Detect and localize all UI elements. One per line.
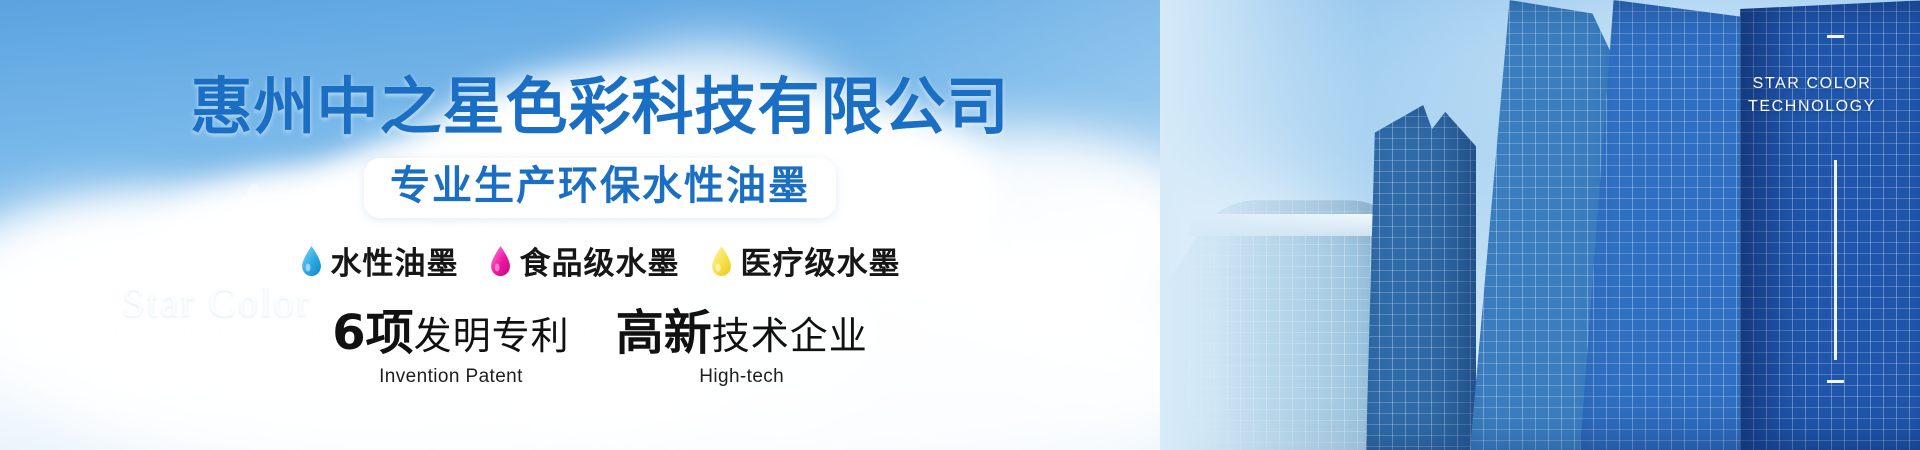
water-drop-icon (300, 245, 323, 277)
feature-label: 医疗级水墨 (741, 238, 901, 283)
badge-main-text: 高新 技术企业 (616, 309, 868, 357)
feature-list: 水性油墨 食品级水墨 (300, 238, 901, 283)
badge-rest-text: 技术企业 (712, 317, 868, 355)
logo-tick-bottom (1827, 380, 1844, 383)
badge-main-text: 6项 发明专利 (332, 309, 569, 357)
badge-high-tech: 高新 技术企业 High-tech (616, 309, 868, 388)
badge-list: 6项 发明专利 Invention Patent 高新 技术企业 High-te… (332, 309, 867, 388)
badge-english-text: Invention Patent (379, 366, 523, 388)
logo-tick-top (1827, 35, 1844, 38)
badge-invention-patent: 6项 发明专利 Invention Patent (332, 309, 569, 388)
badge-strong-text: 高新 (616, 309, 712, 357)
feature-item: 水性油墨 (300, 238, 459, 283)
badge-strong-text: 6项 (332, 309, 413, 357)
water-drop-icon (710, 245, 733, 277)
logo-vertical-rule (1834, 160, 1837, 360)
feature-item: 医疗级水墨 (710, 238, 901, 283)
water-drop-icon (489, 245, 512, 277)
company-title: 惠州中之星色彩科技有限公司 (190, 56, 1009, 146)
feature-item: 食品级水墨 (489, 238, 680, 283)
feature-label: 食品级水墨 (520, 238, 680, 283)
feature-label: 水性油墨 (331, 238, 459, 283)
subtitle-pill: 专业生产环保水性油墨 (364, 158, 836, 218)
subtitle-text: 专业生产环保水性油墨 (390, 165, 810, 208)
badge-rest-text: 发明专利 (414, 317, 570, 355)
banner-content: 惠州中之星色彩科技有限公司 专业生产环保水性油墨 水性油墨 (0, 0, 1200, 450)
badge-english-text: High-tech (699, 366, 784, 388)
skyscraper-photo (1160, 0, 1920, 450)
promotional-banner: Star Color STAR COLOR TECHNOLOGY 惠州中之星色彩… (0, 0, 1920, 450)
